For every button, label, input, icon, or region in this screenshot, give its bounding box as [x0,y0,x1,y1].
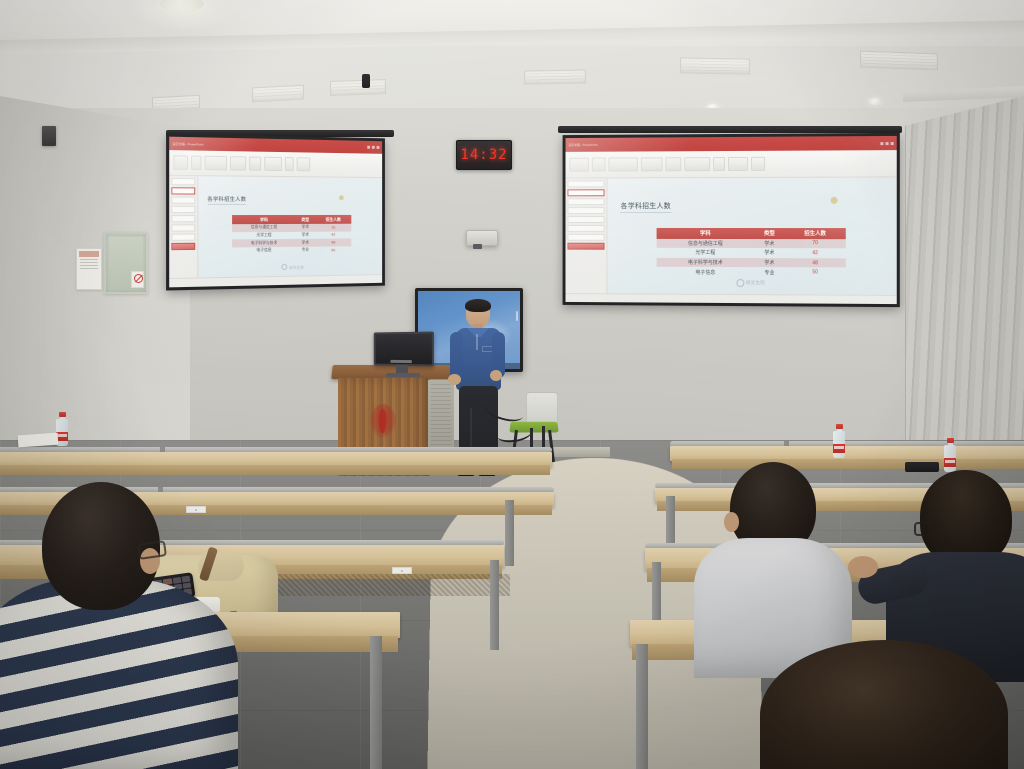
digital-wall-clock: 14:32 [456,140,512,170]
slide-thumbnail[interactable] [171,224,195,231]
window-buttons[interactable] [367,146,379,149]
clock-time: 14:32 [460,147,507,163]
window-buttons[interactable] [880,142,893,145]
cell-count: 70 [785,239,846,249]
presenter-left-hand [448,374,461,385]
slide-thumbnail[interactable] [567,216,604,223]
cell-count: 48 [785,258,846,268]
cell-type: 学术 [754,248,784,258]
slide-thumbnail[interactable] [171,178,195,185]
vertical-blinds[interactable] [905,96,1024,468]
ceiling-vent-5 [680,57,750,74]
slide-title: 各学科招生人数 [207,195,246,204]
chair-leg [542,426,545,448]
cell-type: 学术 [296,224,315,232]
table-header-count: 招生人数 [315,215,352,224]
powerpoint-window-right[interactable]: 演示文稿 - PowerPoint [566,136,897,304]
slide-footer-text: 研究生院 [746,280,765,286]
audience-ear [724,512,739,532]
lecture-hall-photo: 演示文稿 - PowerPoint [0,0,1024,769]
table-header-type: 类型 [754,228,784,239]
fire-hose-cabinet[interactable] [104,232,148,294]
enrollment-table: 学科 类型 招生人数 信息与通信工程 学术 70 [232,215,352,255]
cell-discipline: 信息与通信工程 [657,238,755,248]
cell-type: 学术 [754,239,784,249]
notice-header-band [79,251,98,257]
cell-count: 50 [785,268,846,278]
slide-footer-text: 研究生院 [289,264,304,269]
ceiling-vent-6 [860,51,938,71]
water-bottle [833,424,845,458]
audience-foreground [760,640,1020,769]
audience-hand [848,556,878,578]
audience-glasses [914,522,938,536]
desk-leg [636,644,648,769]
ceiling-projector [466,230,498,246]
ceiling-vent-4 [524,69,586,84]
slide-decoration-dot [831,196,838,203]
table-row: 电子信息 专业 50 [657,267,846,277]
ceiling-downlight-6 [868,98,882,105]
slide-thumbnail[interactable] [171,196,195,203]
slide-thumbnail[interactable] [171,215,195,222]
slide-thumbnail-panel[interactable] [169,176,198,279]
table-header-count: 招生人数 [785,228,846,239]
desk-label: C [392,567,412,574]
table-row: 信息与通信工程 学术 70 [657,238,846,248]
desk-leg [505,500,514,566]
slide-thumbnail[interactable] [567,225,604,232]
cell-type: 学术 [754,258,784,268]
water-bottle [944,438,956,472]
slide-thumbnail[interactable] [171,233,195,240]
slide-decoration-dot [339,195,344,200]
cell-count: 50 [315,246,352,254]
wall-notice-sheet [76,248,102,290]
cell-discipline: 光学工程 [657,248,755,258]
ppt-title-text: 演示文稿 - PowerPoint [172,141,203,146]
desk-leg [370,636,382,769]
table-header-discipline: 学科 [657,228,755,239]
slide-thumbnail-panel[interactable] [566,178,608,292]
presenter-left-arm [450,332,463,380]
slide-canvas-right: 各学科招生人数 学科 类型 招生人数 信息与通信工程 [608,178,897,295]
wall-speaker-left [42,126,56,146]
slide-thumbnail[interactable] [567,234,604,241]
ceiling-vent-2 [252,85,304,103]
monitor-screen[interactable] [374,331,434,366]
cell-type: 专业 [754,267,784,277]
slide-title: 各学科招生人数 [621,201,671,213]
cell-discipline: 电子科学与技术 [657,258,755,268]
ppt-body: 各学科招生人数 学科 类型 招生人数 信息与通信工程 [169,176,382,279]
cell-discipline: 电子信息 [232,247,296,255]
table-header-discipline: 学科 [232,215,296,224]
audience-glasses [137,540,167,560]
slide-footer-logo: 研究生院 [736,279,765,287]
ppt-ribbon[interactable] [566,150,897,178]
display-side-buttons[interactable] [516,311,518,321]
slide-canvas-left: 各学科招生人数 学科 类型 招生人数 信息与通信工程 [198,176,382,278]
notice-line [80,265,98,266]
no-smoking-sign [131,271,144,288]
table-row: 电子信息 专业 50 [232,246,352,255]
presenter-hair [465,299,491,312]
notice-line [80,268,98,269]
university-emblem [370,404,396,438]
slide-thumbnail[interactable] [171,206,195,213]
monitor-base [386,373,420,377]
ppt-body: 各学科招生人数 学科 类型 招生人数 信息与通信工程 [566,178,897,295]
powerpoint-window-left[interactable]: 演示文稿 - PowerPoint [169,137,382,288]
monitor-brand-logo [391,360,412,363]
university-seal-icon [281,264,287,270]
cell-type: 专业 [296,246,315,254]
left-projection-screen[interactable]: 演示文稿 - PowerPoint [166,133,385,290]
cell-discipline: 电子信息 [657,267,755,277]
slide-thumbnail[interactable] [567,243,604,250]
right-projection-screen[interactable]: 演示文稿 - PowerPoint [563,133,900,307]
desk-leg [490,560,499,650]
slide-footer-logo: 研究生院 [281,264,304,270]
cell-count: 42 [785,248,846,258]
podium-monitor[interactable] [372,332,434,376]
slide-thumbnail[interactable] [171,243,195,250]
table-row: 光学工程 学术 42 [657,248,846,258]
slide-thumbnail-active[interactable] [567,189,604,196]
ceiling-vent-3 [330,79,386,96]
notice-line [80,262,98,263]
right-screen-roller [558,126,902,133]
slide-thumbnail[interactable] [567,180,604,187]
enrollment-table: 学科 类型 招生人数 信息与通信工程 学术 70 [657,228,846,278]
slide-thumbnail[interactable] [567,198,604,205]
table-header-type: 类型 [296,215,315,224]
presenter-shirt-placket [476,334,478,350]
audience-striped-shirt [0,470,260,769]
ppt-ribbon[interactable] [169,150,382,178]
cell-type: 学术 [296,231,315,239]
ppt-title-text: 演示文稿 - PowerPoint [568,143,597,147]
slide-thumbnail-active[interactable] [171,187,195,194]
ppt-status-bar [566,293,897,305]
notice-line [80,259,98,260]
ceiling-sensor [362,74,370,88]
audience-head [760,640,1008,769]
university-seal-icon [736,279,744,287]
slide-thumbnail[interactable] [567,207,604,214]
table-header-row: 学科 类型 招生人数 [657,228,846,239]
presenter-right-hand [490,370,502,381]
